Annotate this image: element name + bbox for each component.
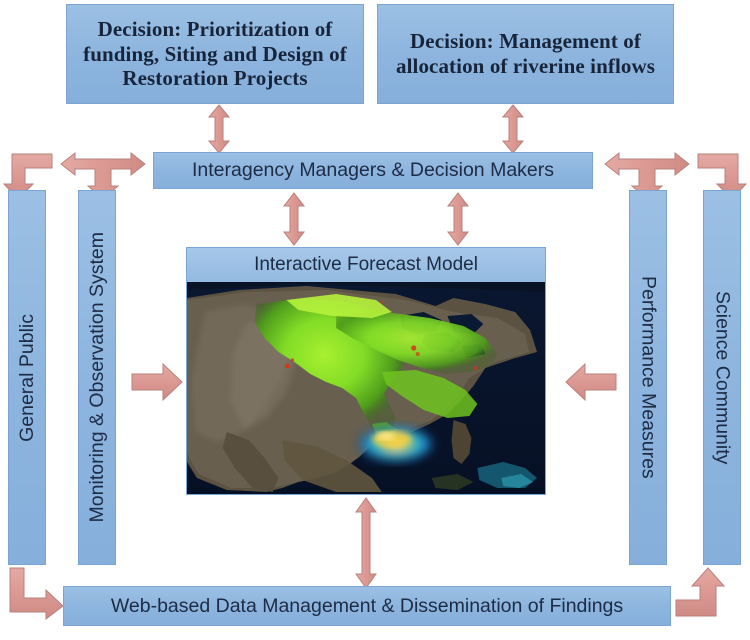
interactive-forecast-model[interactable]: Interactive Forecast Model [186, 247, 546, 495]
column-monitoring-label: Monitoring & Observation System [86, 232, 109, 522]
arrow-elbow-webdata-to-science-community [676, 566, 732, 620]
forecast-model-title-label: Interactive Forecast Model [254, 254, 478, 276]
decision-box-1-label: Decision: Prioritization of funding, Sit… [77, 17, 353, 91]
column-science-community[interactable]: Science Community [703, 190, 741, 565]
arrow-managers-to-model-left [281, 192, 307, 246]
column-performance-label: Performance Measures [637, 276, 660, 479]
arrow-decision-1-to-managers [206, 104, 232, 154]
arrow-model-to-webdata [353, 497, 379, 589]
column-general-public-label: General Public [16, 314, 39, 442]
bar-bottom-label: Web-based Data Management & Disseminatio… [111, 595, 623, 618]
bar-interagency-managers[interactable]: Interagency Managers & Decision Makers [153, 152, 593, 189]
forecast-map-image[interactable] [187, 282, 545, 494]
column-general-public[interactable]: General Public [8, 190, 46, 565]
column-science-label: Science Community [711, 291, 734, 464]
bar-web-based-data-management[interactable]: Web-based Data Management & Disseminatio… [63, 586, 671, 626]
arrow-elbow-general-public-to-webdata [8, 568, 64, 620]
diagram-canvas: Decision: Prioritization of funding, Sit… [0, 0, 750, 640]
forecast-model-title: Interactive Forecast Model [187, 248, 545, 282]
arrow-managers-to-model-right [445, 192, 471, 246]
column-performance-measures[interactable]: Performance Measures [629, 190, 667, 565]
decision-box-2-label: Decision: Management of allocation of ri… [388, 29, 663, 79]
arrow-monitoring-to-model [131, 362, 183, 402]
decision-box-prioritization[interactable]: Decision: Prioritization of funding, Sit… [66, 4, 364, 104]
column-monitoring-observation-system[interactable]: Monitoring & Observation System [78, 190, 116, 565]
decision-box-allocation[interactable]: Decision: Management of allocation of ri… [377, 4, 674, 104]
bar-managers-label: Interagency Managers & Decision Makers [192, 159, 554, 182]
arrow-decision-2-to-managers [500, 104, 526, 154]
arrow-performance-to-model [565, 362, 617, 402]
